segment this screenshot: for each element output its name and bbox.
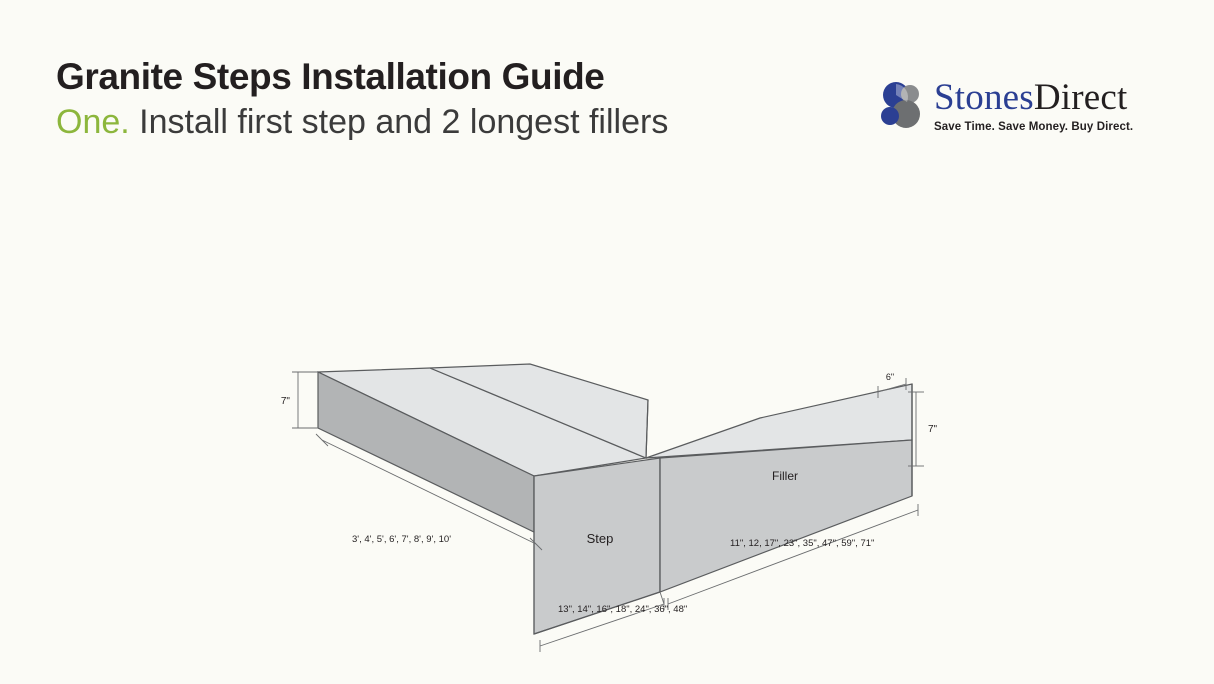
logo-wordmark: StonesDirect — [934, 76, 1128, 119]
logo-name-direct: Direct — [1034, 77, 1128, 118]
title-block: Granite Steps Installation Guide One. In… — [56, 58, 668, 141]
step-length-label: 3', 4', 5', 6', 7', 8', 9', 10' — [352, 534, 451, 545]
step-assembly-solid — [318, 364, 912, 634]
step-width-label: 13", 14", 16", 18", 24", 36", 48" — [558, 604, 687, 615]
granite-step-diagram: 7" 6" 7" 3', 4', 5', 6', 7', 8', 9', 10'… — [0, 300, 1214, 684]
logo-name-stones: Stones — [934, 77, 1034, 118]
step-piece-label: Step — [587, 531, 614, 546]
page-title: Granite Steps Installation Guide — [56, 58, 668, 97]
step-subtitle-label: Install first step and 2 longest fillers — [139, 103, 668, 141]
stones-direct-mark-icon — [876, 80, 932, 132]
right-depth-label: 6" — [886, 372, 894, 382]
step-subtitle: One. Install first step and 2 longest fi… — [56, 105, 668, 141]
right-height-label: 7" — [928, 424, 938, 435]
left-height-label: 7" — [281, 396, 291, 407]
filler-piece-label: Filler — [772, 469, 798, 483]
filler-length-label: 11", 12, 17", 23", 35", 47", 59", 71" — [730, 538, 874, 549]
logo-tagline: Save Time. Save Money. Buy Direct. — [934, 121, 1133, 133]
step-length-tick-start — [316, 434, 328, 446]
step-number-label: One. — [56, 103, 130, 141]
brand-logo: StonesDirect Save Time. Save Money. Buy … — [876, 76, 1176, 150]
filler-front-face — [660, 440, 912, 592]
step-width-extension — [660, 592, 664, 604]
